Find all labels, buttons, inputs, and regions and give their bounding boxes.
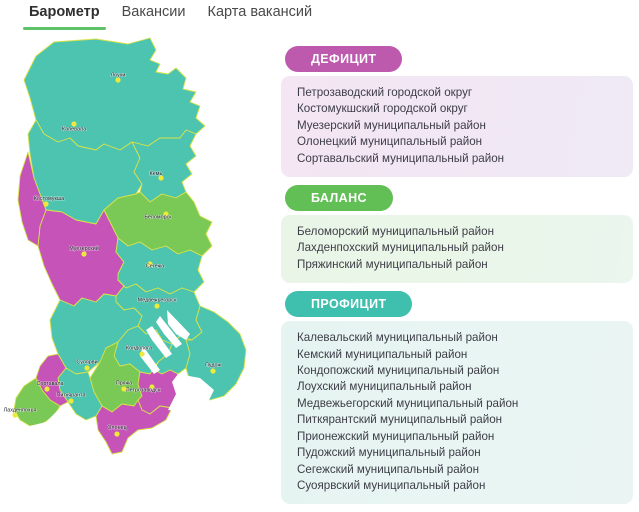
list-item[interactable]: Сортавальский муниципальный район	[297, 151, 617, 167]
list-item[interactable]: Костомукшский городской округ	[297, 101, 617, 117]
list-item[interactable]: Олонецкий муниципальный район	[297, 134, 617, 150]
tab-karta-vakansiy[interactable]: Карта вакансий	[197, 0, 324, 30]
city-label: Костомукша	[34, 196, 64, 202]
city-label: Питкяранта	[56, 393, 85, 399]
city-label: Муезерский	[69, 245, 99, 252]
city-dot[interactable]	[84, 365, 89, 370]
main-tab-bar: Барометр Вакансии Карта вакансий	[0, 0, 639, 34]
city-dot[interactable]	[114, 431, 119, 436]
list-item[interactable]: Кемский муниципальный район	[297, 347, 617, 363]
city-label: Пудож	[205, 363, 221, 369]
city-label: Сортавала	[36, 381, 63, 387]
legend-panel-deficit: Петрозаводский городской округ Костомукш…	[281, 76, 633, 177]
list-item[interactable]: Пудожский муниципальный район	[297, 445, 617, 461]
city-dot[interactable]	[121, 386, 126, 391]
city-dot[interactable]	[154, 303, 159, 308]
list-item[interactable]: Калевальский муниципальный район	[297, 330, 617, 346]
list-item[interactable]: Лоухский муниципальный район	[297, 379, 617, 395]
list-item[interactable]: Пряжинский муниципальный район	[297, 257, 617, 273]
list-item[interactable]: Медвежьегорский муниципальный район	[297, 396, 617, 412]
legend-group-deficit: ДЕФИЦИТ Петрозаводский городской округ К…	[281, 46, 633, 177]
city-label: Петрозаводск	[126, 388, 161, 394]
city-label: Кемь	[150, 171, 163, 177]
list-item[interactable]: Прионежский муниципальный район	[297, 429, 617, 445]
list-item[interactable]: Муезерский муниципальный район	[297, 118, 617, 134]
map-svg: ЛоухиКалевалаКемьКостомукшаБеломорскМуез…	[0, 34, 275, 473]
status-legend-column: ДЕФИЦИТ Петрозаводский городской округ К…	[281, 46, 633, 512]
list-item[interactable]: Питкярантский муниципальный район	[297, 412, 617, 428]
tab-barometr-label: Барометр	[29, 4, 100, 20]
city-label: Пряжа	[116, 381, 132, 387]
city-dot[interactable]	[44, 386, 49, 391]
map-region-louhskiy[interactable]	[24, 38, 205, 150]
map-region-muezerskiy[interactable]	[38, 210, 124, 306]
tab-barometr[interactable]: Барометр	[18, 0, 111, 30]
legend-group-balance: БАЛАНС Беломорский муниципальный район Л…	[281, 185, 633, 283]
active-tab-indicator	[23, 27, 106, 30]
list-item[interactable]: Петрозаводский городской округ	[297, 85, 617, 101]
city-label: Суоярви	[76, 360, 97, 366]
legend-pill-deficit[interactable]: ДЕФИЦИТ	[285, 46, 402, 72]
city-label: Кондопога	[126, 346, 152, 352]
city-label: Калевала	[62, 127, 86, 133]
list-item[interactable]: Кондопожский муниципальный район	[297, 363, 617, 379]
city-label: Беломорск	[144, 215, 172, 221]
legend-panel-balance: Беломорский муниципальный район Лахденпо…	[281, 215, 633, 283]
tab-vakansii-label: Вакансии	[122, 4, 186, 20]
city-dot[interactable]	[43, 201, 48, 206]
tab-vakansii[interactable]: Вакансии	[111, 0, 197, 30]
legend-group-surplus: ПРОФИЦИТ Калевальский муниципальный райо…	[281, 291, 633, 504]
city-label: Медвежьегорск	[138, 298, 177, 304]
city-label: Олонец	[107, 425, 126, 431]
city-label: Лахденпохья	[4, 408, 37, 414]
surplus-district-list: Калевальский муниципальный район Кемский…	[297, 330, 617, 494]
deficit-district-list: Петрозаводский городской округ Костомукш…	[297, 85, 617, 167]
list-item[interactable]: Беломорский муниципальный район	[297, 224, 617, 240]
list-item[interactable]: Суоярвский муниципальный район	[297, 478, 617, 494]
legend-pill-surplus[interactable]: ПРОФИЦИТ	[285, 291, 412, 317]
karelia-choropleth-map[interactable]: ЛоухиКалевалаКемьКостомукшаБеломорскМуез…	[0, 34, 275, 473]
city-dot[interactable]	[210, 368, 215, 373]
city-dot[interactable]	[68, 398, 73, 403]
city-label: Лоухи	[111, 73, 126, 79]
city-label: Сегежа	[146, 264, 164, 270]
city-dot[interactable]	[81, 251, 86, 256]
city-dot[interactable]	[139, 351, 144, 356]
legend-pill-balance[interactable]: БАЛАНС	[285, 185, 393, 211]
tab-karta-vakansiy-label: Карта вакансий	[208, 4, 313, 20]
list-item[interactable]: Лахденпохский муниципальный район	[297, 240, 617, 256]
legend-panel-surplus: Калевальский муниципальный район Кемский…	[281, 321, 633, 504]
list-item[interactable]: Сегежский муниципальный район	[297, 462, 617, 478]
balance-district-list: Беломорский муниципальный район Лахденпо…	[297, 224, 617, 273]
